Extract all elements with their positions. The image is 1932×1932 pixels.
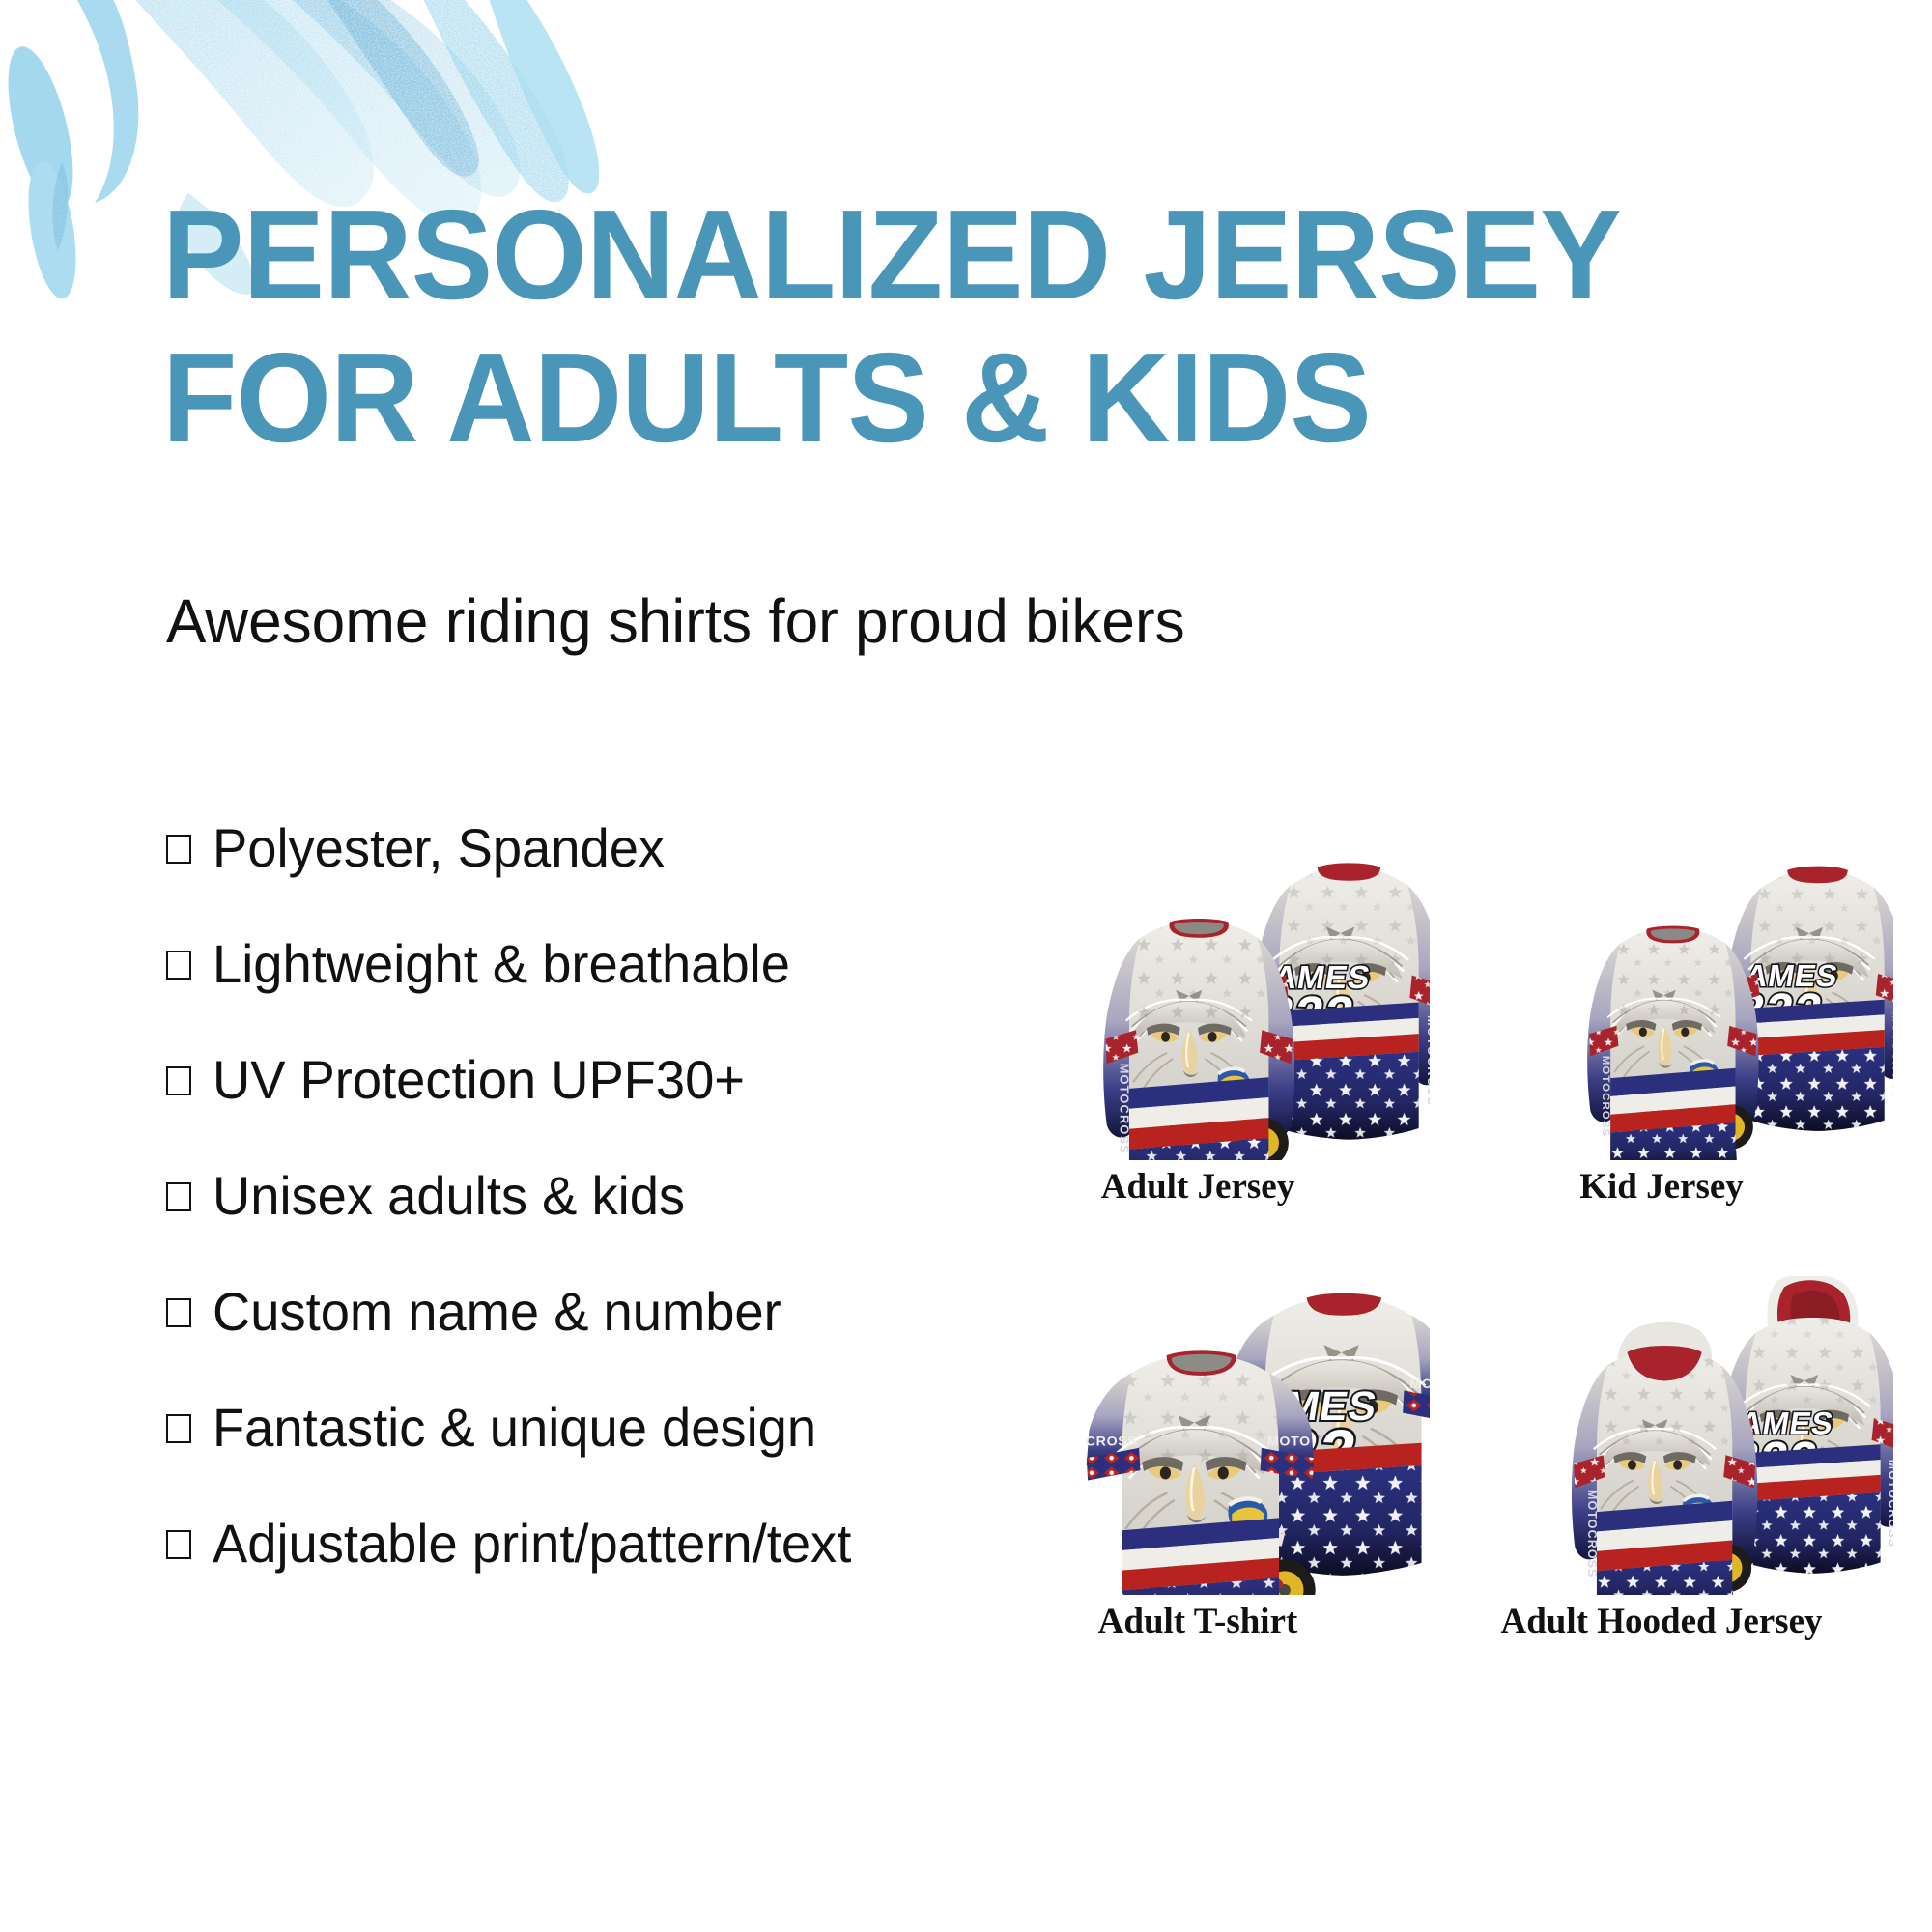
- feature-item: Unisex adults & kids: [166, 1164, 939, 1280]
- feature-label: Custom name & number: [213, 1280, 781, 1343]
- headline-line-1: PERSONALIZED JERSEY: [162, 184, 1720, 327]
- feature-item: Fantastic & unique design: [166, 1396, 939, 1512]
- square-bullet-icon: [166, 1530, 191, 1559]
- feature-label: Lightweight & breathable: [213, 932, 790, 995]
- feature-item: Polyester, Spandex: [166, 816, 939, 932]
- product-image-adult-jersey: [966, 841, 1430, 1160]
- product-label: Adult T-shirt: [1098, 1601, 1298, 1642]
- product-label: Adult Jersey: [1101, 1166, 1294, 1207]
- square-bullet-icon: [166, 1298, 191, 1327]
- feature-label: Unisex adults & kids: [213, 1164, 685, 1227]
- product-card-adult-tshirt[interactable]: Adult T-shirt: [966, 1207, 1430, 1642]
- product-card-kid-jersey[interactable]: Kid Jersey: [1430, 773, 1893, 1207]
- product-image-adult-tshirt: [966, 1276, 1430, 1595]
- square-bullet-icon: [166, 1182, 191, 1211]
- feature-label: UV Protection UPF30+: [213, 1048, 745, 1111]
- headline-line-2: FOR ADULTS & KIDS: [162, 327, 1720, 469]
- subtitle: Awesome riding shirts for proud bikers: [166, 584, 1185, 658]
- product-label: Adult Hooded Jersey: [1501, 1601, 1823, 1642]
- product-image-kid-jersey: [1430, 841, 1893, 1160]
- product-card-adult-jersey[interactable]: Adult Jersey: [966, 773, 1430, 1207]
- product-card-adult-hooded-jersey[interactable]: Adult Hooded Jersey: [1430, 1207, 1893, 1642]
- square-bullet-icon: [166, 1414, 191, 1443]
- feature-label: Fantastic & unique design: [213, 1396, 816, 1459]
- feature-item: UV Protection UPF30+: [166, 1048, 939, 1164]
- square-bullet-icon: [166, 951, 191, 980]
- feature-label: Adjustable print/pattern/text: [213, 1512, 851, 1575]
- product-grid: Adult Jersey Kid Jersey Adult T-shirt: [966, 773, 1893, 1642]
- square-bullet-icon: [166, 1066, 191, 1095]
- feature-label: Polyester, Spandex: [213, 816, 665, 879]
- feature-item: Custom name & number: [166, 1280, 939, 1396]
- feature-list: Polyester, Spandex Lightweight & breatha…: [166, 816, 939, 1628]
- page-title: PERSONALIZED JERSEY FOR ADULTS & KIDS: [162, 184, 1785, 469]
- product-image-adult-hooded-jersey: [1430, 1276, 1893, 1595]
- feature-item: Lightweight & breathable: [166, 932, 939, 1048]
- square-bullet-icon: [166, 835, 191, 864]
- feature-item: Adjustable print/pattern/text: [166, 1512, 939, 1628]
- product-label: Kid Jersey: [1579, 1166, 1744, 1207]
